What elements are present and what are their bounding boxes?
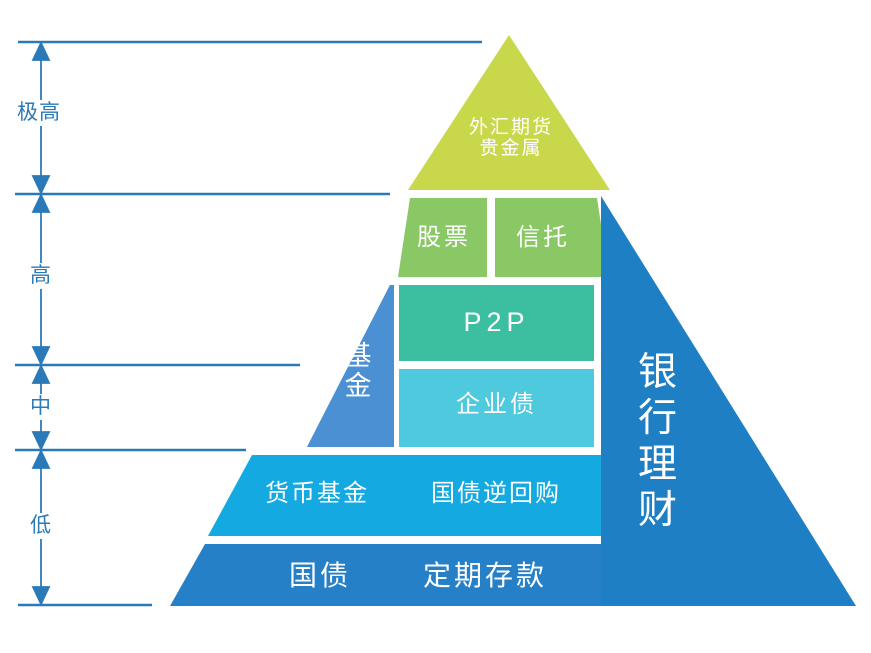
arrow-up-extreme <box>33 43 49 60</box>
axis-label-low: 低 <box>27 513 55 539</box>
arrow-up-high <box>33 195 49 212</box>
arrow-up-low <box>33 451 49 468</box>
arrow-down-extreme <box>33 176 49 193</box>
arrow-down-low <box>33 587 49 604</box>
diagram-canvas: 极高 高 中 低 外汇期货 贵金属 股票 信托 基 金 P2P 企业债 货币基金… <box>0 0 871 653</box>
risk-axis-guides <box>0 0 871 653</box>
arrow-up-medium <box>33 366 49 383</box>
axis-label-extreme: 极高 <box>14 100 64 126</box>
axis-label-high: 高 <box>27 263 55 289</box>
arrow-down-high <box>33 347 49 364</box>
axis-label-medium: 中 <box>27 394 55 420</box>
arrow-down-medium <box>33 432 49 449</box>
